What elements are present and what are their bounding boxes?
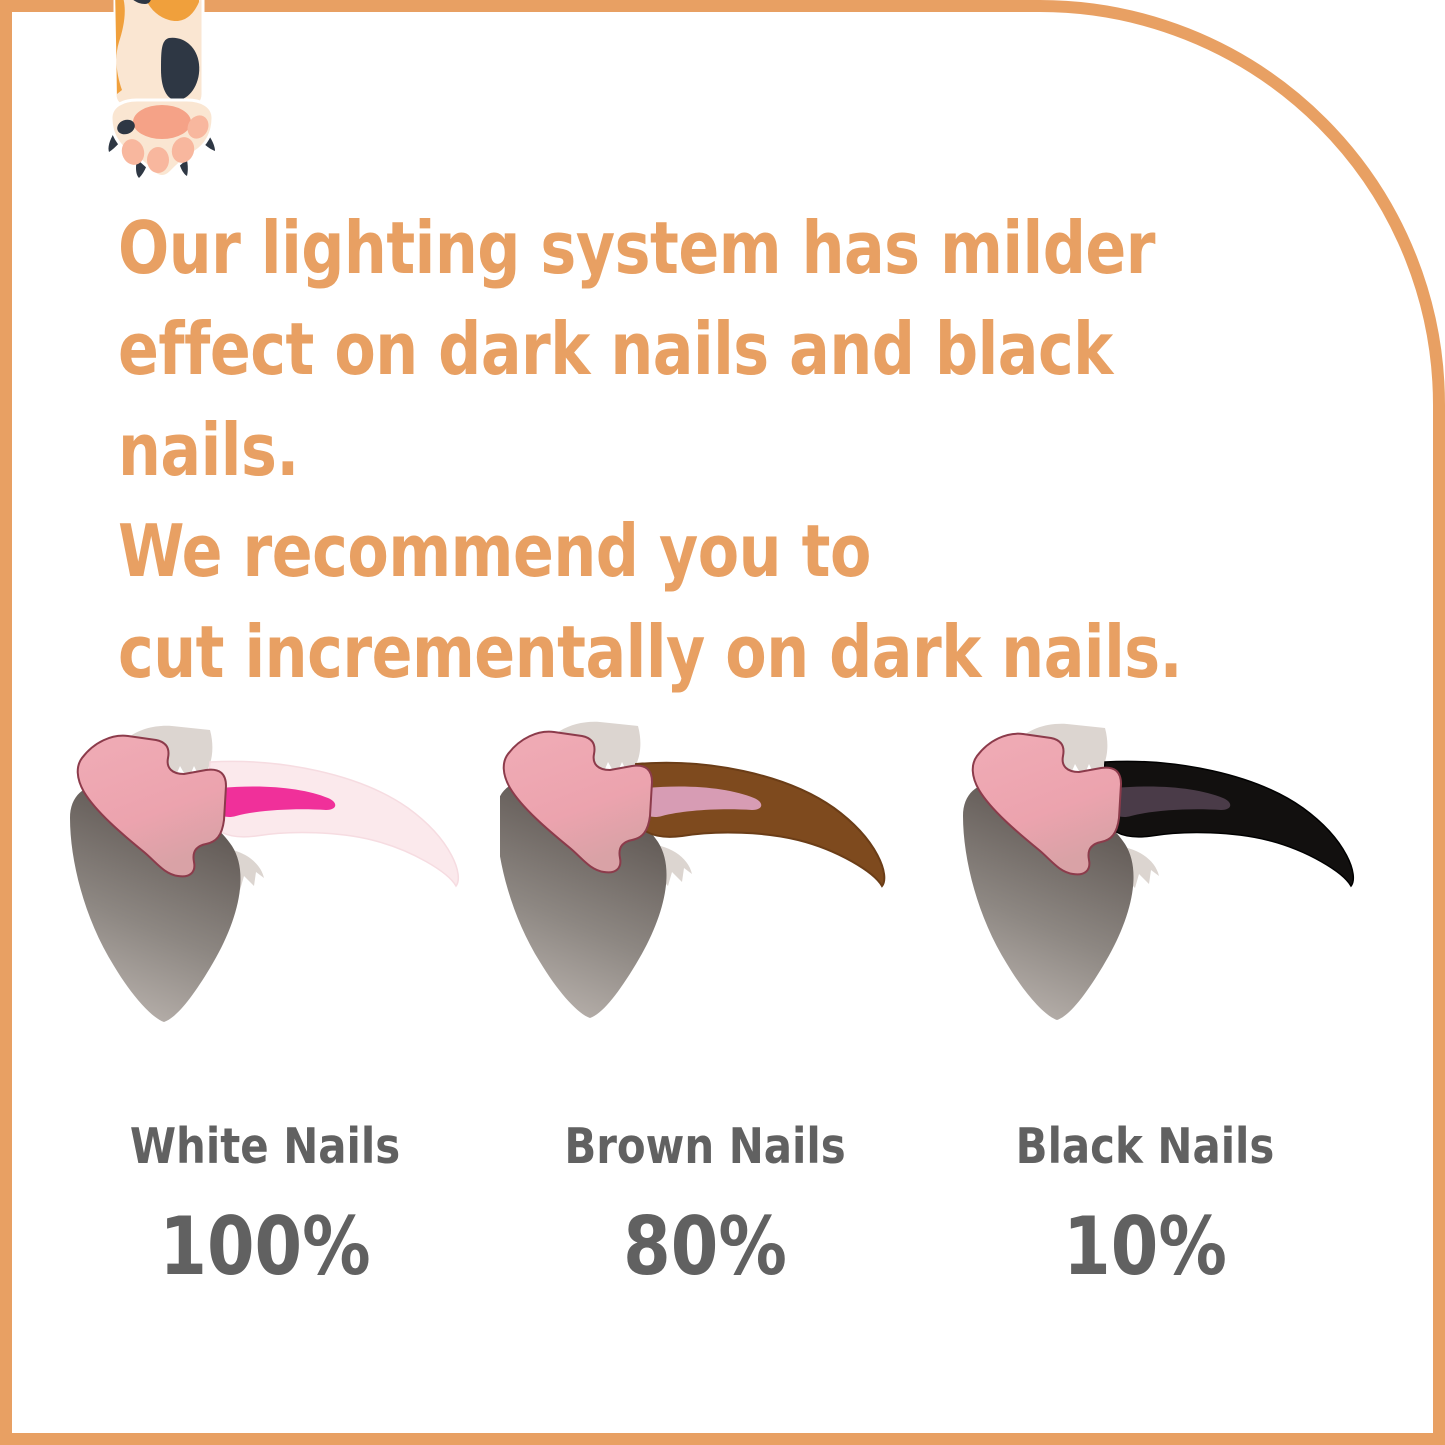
nail-label-black: Black Nails	[941, 1118, 1350, 1175]
calico-cat-paw	[95, 0, 230, 184]
nail-illustration-white	[60, 700, 490, 1040]
nail-percent-black: 10%	[941, 1200, 1350, 1293]
nail-column-black: Black Nails 10%	[945, 700, 1375, 1360]
poster-canvas: Our lighting system has milder effect on…	[0, 0, 1445, 1445]
toe-pad-2	[147, 147, 169, 173]
nail-label-brown: Brown Nails	[501, 1118, 910, 1175]
nail-column-brown: Brown Nails 80%	[500, 700, 930, 1360]
nail-illustration-black	[945, 700, 1375, 1040]
nail-label-white: White Nails	[61, 1118, 470, 1175]
nail-art-svg-brown	[500, 700, 930, 1040]
paw-icon	[95, 0, 230, 184]
nail-art-svg-black	[945, 700, 1375, 1040]
nail-column-white: White Nails 100%	[60, 700, 490, 1360]
headline-text: Our lighting system has milder effect on…	[118, 198, 1267, 703]
nail-illustration-brown	[500, 700, 930, 1040]
nail-percent-brown: 80%	[501, 1200, 910, 1293]
nail-comparison-row: White Nails 100%	[0, 700, 1445, 1360]
paw-main-pad	[133, 105, 191, 139]
nail-percent-white: 100%	[61, 1200, 470, 1293]
nail-art-svg-white	[60, 700, 490, 1040]
